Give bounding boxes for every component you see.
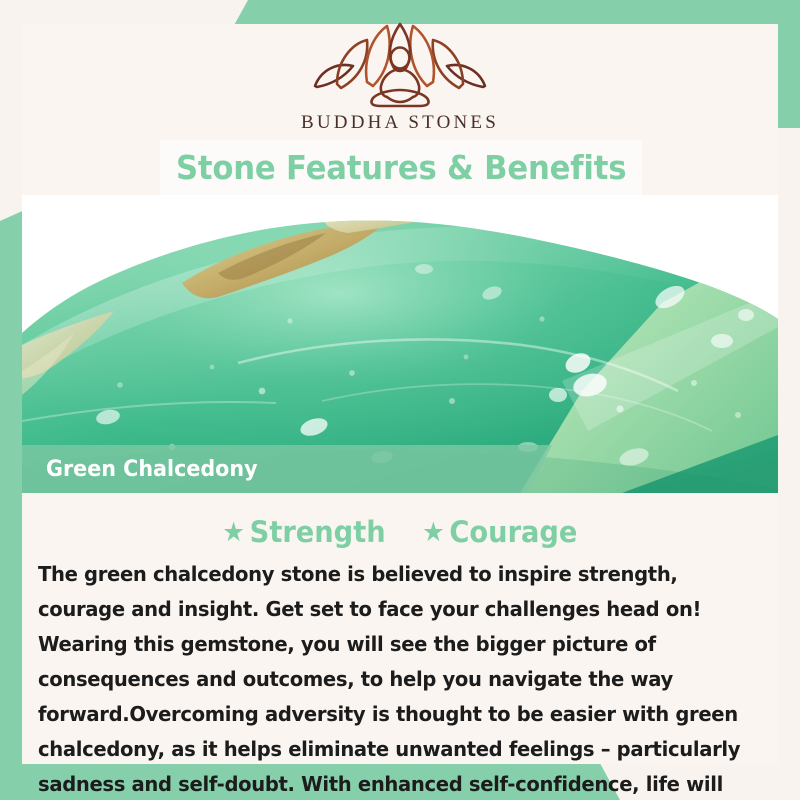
brand-header: BUDDHA STONES [0, 22, 800, 134]
benefit-strength: ★ Strength [223, 515, 386, 549]
star-icon: ★ [422, 519, 445, 546]
benefits-row: ★ Strength ★ Courage [22, 515, 778, 549]
benefit-courage-label: Courage [450, 515, 578, 549]
brand-name: BUDDHA STONES [301, 112, 499, 134]
lotus-meditation-figure-icon [307, 22, 493, 108]
body-paragraph: The green chalcedony stone is believed t… [38, 557, 745, 800]
page-title: Stone Features & Benefits [176, 148, 626, 187]
benefit-courage: ★ Courage [422, 515, 577, 549]
benefit-strength-label: Strength [250, 515, 386, 549]
poster-root: BUDDHA STONES Stone Features & Benefits [0, 0, 800, 800]
photo-caption-ribbon: Green Chalcedony [22, 445, 552, 493]
stone-photo: Green Chalcedony [22, 195, 778, 493]
title-banner: Stone Features & Benefits [160, 140, 642, 195]
photo-caption-label: Green Chalcedony [46, 457, 258, 482]
star-icon: ★ [223, 519, 246, 546]
